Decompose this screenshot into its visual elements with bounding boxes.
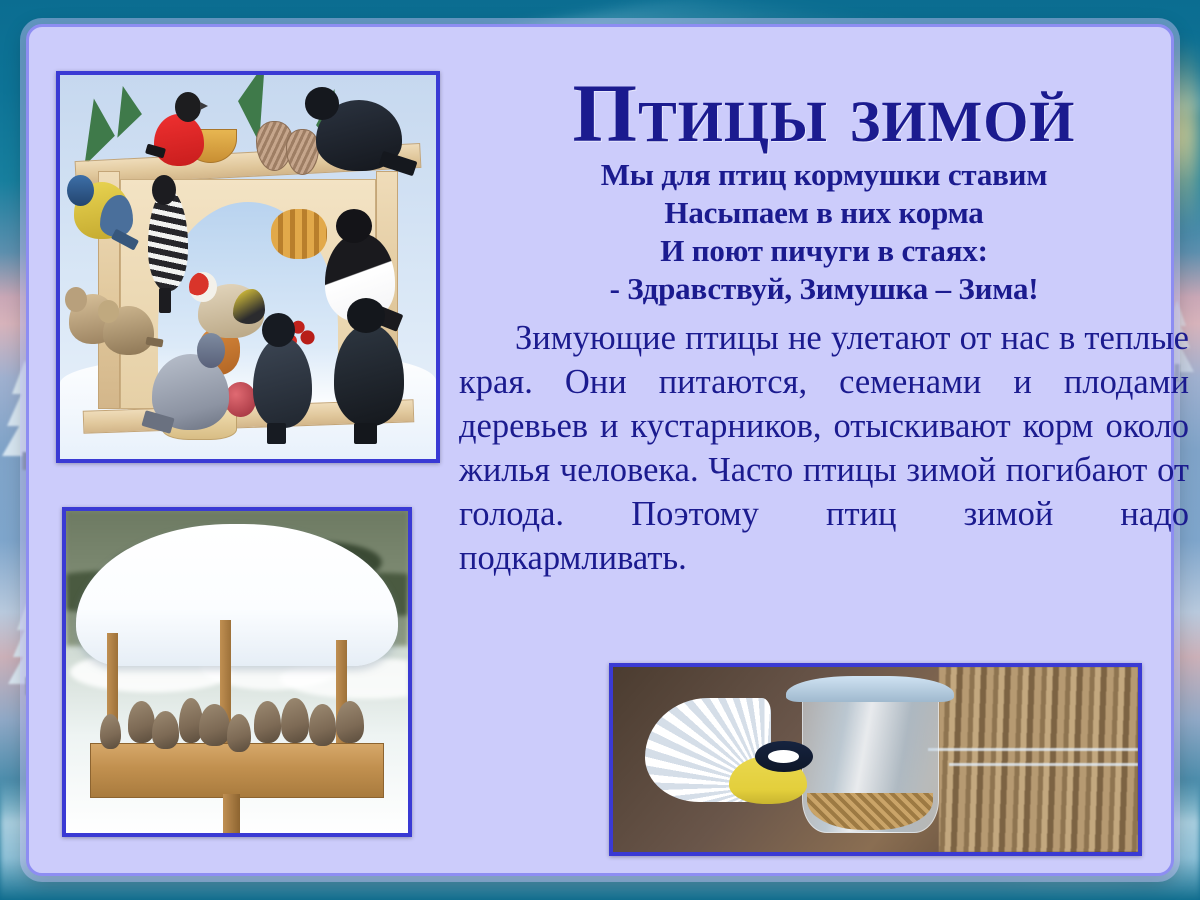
slide-card: Птицы зимой Мы для птиц кормушки ставим … xyxy=(26,24,1174,876)
crow-bird xyxy=(301,79,414,187)
tree-trunk xyxy=(939,667,1139,852)
sparrow-bird xyxy=(309,704,336,746)
feeder-wire xyxy=(928,748,1138,751)
sparrow-bird xyxy=(336,701,363,743)
poem-line: И поют пичуги в стаях: xyxy=(459,232,1189,270)
sparrow-bird xyxy=(227,714,251,753)
bullfinch-bird xyxy=(146,90,210,174)
poem-line: Насыпаем в них корма xyxy=(459,194,1189,232)
image-great-tit-at-bottle-feeder-photo[interactable] xyxy=(609,663,1142,856)
poem-line: Мы для птиц кормушки ставим xyxy=(459,156,1189,194)
feeder-stand xyxy=(223,794,240,833)
spruce-branch xyxy=(117,86,144,140)
image-snow-covered-feeder-photo[interactable] xyxy=(62,507,412,837)
pigeon-bird xyxy=(143,328,237,443)
poem-line: - Здравствуй, Зимушка – Зима! xyxy=(459,270,1189,308)
image-birds-at-wooden-feeder-illustration[interactable] xyxy=(56,71,440,463)
great-tit-bird xyxy=(64,167,139,259)
poem-block: Мы для птиц кормушки ставим Насыпаем в н… xyxy=(459,156,1189,307)
text-column: Птицы зимой Мы для птиц кормушки ставим … xyxy=(459,73,1189,625)
bottle-top-flap xyxy=(786,676,954,702)
sparrow-bird xyxy=(128,701,155,743)
sparrow-bird xyxy=(281,698,308,743)
slide-root: Птицы зимой Мы для птиц кормушки ставим … xyxy=(0,0,1200,900)
jackdaw-bird xyxy=(244,313,319,444)
feeder-wire xyxy=(949,763,1138,766)
sparrow-bird xyxy=(100,714,121,749)
page-title: Птицы зимой xyxy=(459,73,1189,154)
sparrow-bird xyxy=(152,711,179,750)
body-paragraph: Зимующие птицы не улетают от нас в теплы… xyxy=(459,316,1189,625)
jackdaw-bird xyxy=(323,298,413,444)
sparrow-bird xyxy=(199,704,230,746)
